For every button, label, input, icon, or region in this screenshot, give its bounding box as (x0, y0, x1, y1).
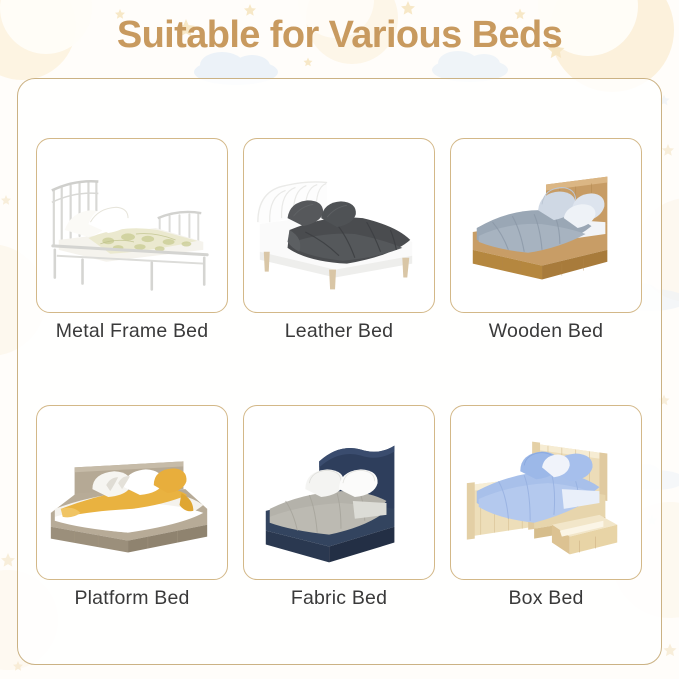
bed-card-platform-bed[interactable]: Platform Bed (36, 405, 228, 637)
bed-card-label: Metal Frame Bed (36, 320, 228, 343)
bed-card-image-frame (450, 138, 642, 313)
bed-card-fabric-bed[interactable]: Fabric Bed (243, 405, 435, 637)
bed-card-label: Wooden Bed (450, 320, 642, 343)
bed-card-grid: Metal Frame Bed (36, 138, 643, 638)
metal-frame-bed-icon (37, 139, 227, 312)
leather-bed-icon (244, 139, 434, 312)
platform-bed-icon (37, 406, 227, 579)
bed-card-image-frame (450, 405, 642, 580)
fabric-bed-icon (244, 406, 434, 579)
bed-card-label: Leather Bed (243, 320, 435, 343)
box-bed-icon (451, 406, 641, 579)
bed-card-image-frame (36, 405, 228, 580)
poster-root: Suitable for Various Beds (0, 0, 679, 679)
bed-card-image-frame (243, 405, 435, 580)
bed-card-box-bed[interactable]: Box Bed (450, 405, 642, 637)
bed-card-metal-frame-bed[interactable]: Metal Frame Bed (36, 138, 228, 370)
bed-card-leather-bed[interactable]: Leather Bed (243, 138, 435, 370)
bed-card-label: Platform Bed (36, 587, 228, 610)
bed-card-label: Box Bed (450, 587, 642, 610)
bed-card-image-frame (36, 138, 228, 313)
bed-card-wooden-bed[interactable]: Wooden Bed (450, 138, 642, 370)
page-title: Suitable for Various Beds (0, 14, 679, 57)
bed-card-image-frame (243, 138, 435, 313)
wooden-bed-icon (451, 139, 641, 312)
bed-card-label: Fabric Bed (243, 587, 435, 610)
